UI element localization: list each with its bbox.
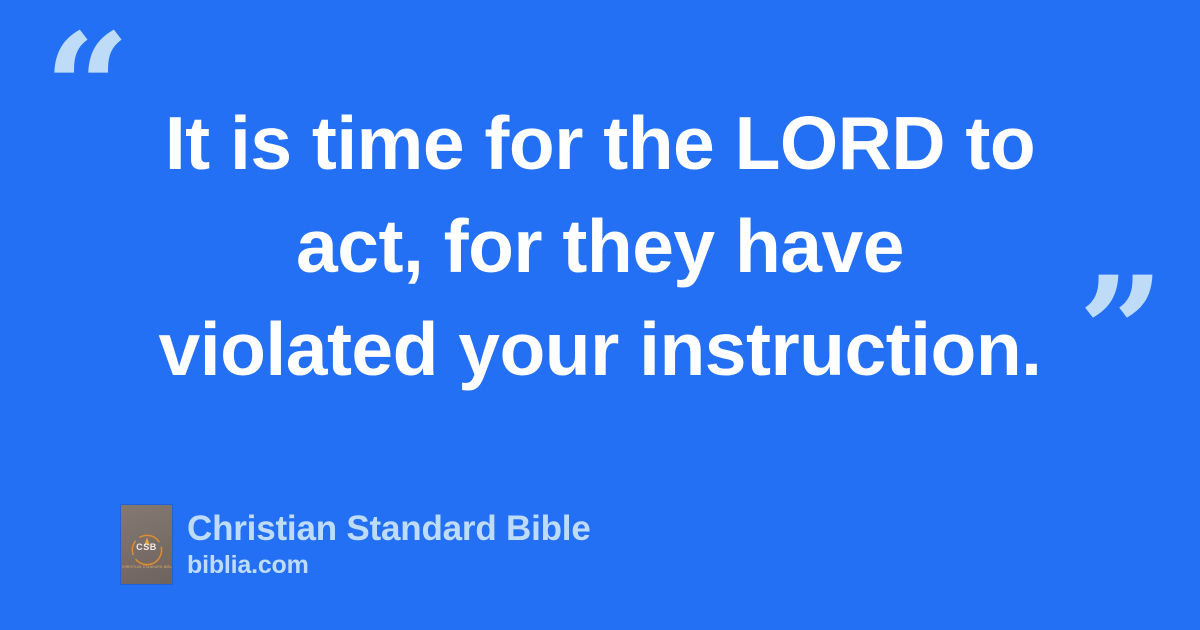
- attribution: CSB CHRISTIAN STANDARD BIBLE Christian S…: [121, 505, 591, 584]
- quote-block: “ It is time for the LORD to act, for th…: [0, 0, 1200, 440]
- source-title: Christian Standard Bible: [187, 510, 591, 548]
- attribution-text-group: Christian Standard Bible biblia.com: [187, 510, 591, 579]
- csb-cover-subtitle-label: CHRISTIAN STANDARD BIBLE: [122, 565, 171, 569]
- quote-text: It is time for the LORD to act, for they…: [120, 92, 1080, 401]
- source-website: biblia.com: [187, 552, 591, 579]
- quote-card: “ It is time for the LORD to act, for th…: [0, 0, 1200, 630]
- closing-quote-mark: ”: [1078, 257, 1160, 407]
- csb-abbreviation-label: CSB: [121, 543, 172, 552]
- csb-book-cover-icon: CSB CHRISTIAN STANDARD BIBLE: [121, 505, 172, 584]
- opening-quote-mark: “: [44, 14, 126, 164]
